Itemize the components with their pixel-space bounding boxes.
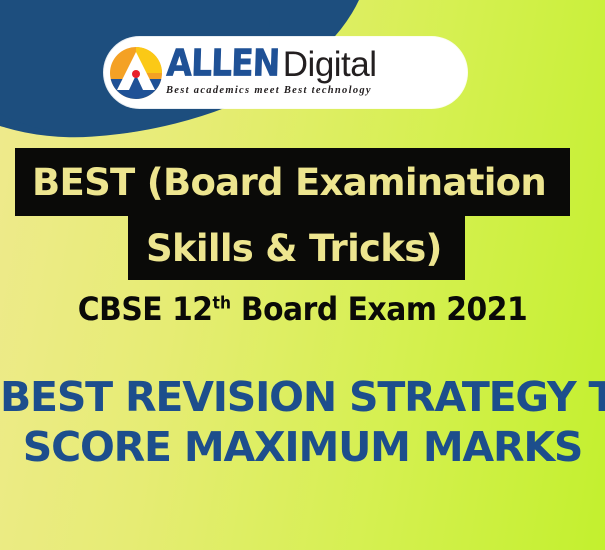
logo-text-block: ALLEN Digital Best academics meet Best t… <box>166 47 467 98</box>
exam-title: CBSE 12th Board Exam 2021 <box>21 293 584 325</box>
headline-line-1: BEST REVISION STRATEGY TO <box>0 372 605 422</box>
exam-ordinal-suffix: th <box>213 293 231 312</box>
logo-brand-secondary: Digital <box>283 47 377 82</box>
banner-line-1: BEST (Board Examination <box>15 148 570 216</box>
banner-line-2: Skills & Tricks) <box>128 216 465 280</box>
logo-brand-primary: ALLEN <box>166 44 280 81</box>
allen-circle-logo-icon <box>108 45 164 101</box>
allen-digital-logo: ALLEN Digital Best academics meet Best t… <box>104 37 467 108</box>
exam-prefix: CBSE 12 <box>78 290 213 328</box>
logo-wordmark: ALLEN Digital <box>166 47 467 82</box>
course-title-banner: BEST (Board Examination Skills & Tricks) <box>0 148 605 280</box>
poster-headline: BEST REVISION STRATEGY TO SCORE MAXIMUM … <box>0 372 605 472</box>
exam-suffix: Board Exam 2021 <box>231 290 527 328</box>
headline-line-2: SCORE MAXIMUM MARKS <box>0 422 605 472</box>
logo-tagline: Best academics meet Best technology <box>166 85 467 96</box>
promo-poster: ALLEN Digital Best academics meet Best t… <box>0 0 605 550</box>
